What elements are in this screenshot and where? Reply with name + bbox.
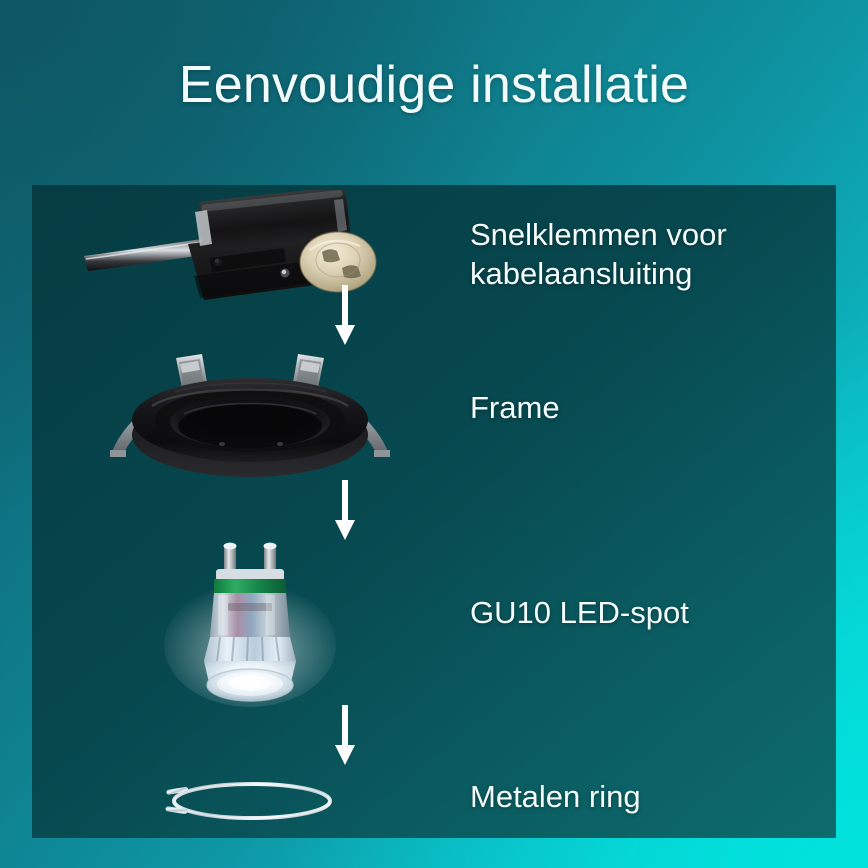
step-label-1-line-2: kabelaansluiting	[470, 254, 830, 293]
step-label-1-line-1: Snelklemmen voor	[470, 215, 830, 254]
terminal-block-connector-icon	[70, 190, 430, 330]
step-label-3: GU10 LED-spot	[470, 593, 830, 632]
step-image-frame	[50, 340, 450, 490]
down-arrow-icon	[332, 285, 358, 347]
step-row-2: Frame	[32, 340, 836, 490]
down-arrow-icon	[332, 705, 358, 767]
downlight-frame-ring-icon	[80, 340, 420, 490]
step-row-4: Metalen ring	[32, 763, 836, 838]
step-image-metal-ring	[50, 763, 450, 838]
step-label-2: Frame	[470, 388, 830, 427]
page-title: Eenvoudige installatie	[0, 55, 868, 115]
brand-band	[214, 579, 286, 594]
step-label-4: Metalen ring	[470, 777, 830, 816]
lamp-branding	[228, 603, 272, 611]
gu10-led-lamp-icon	[140, 533, 360, 713]
step-label-1: Snelklemmen voor kabelaansluiting	[470, 215, 830, 293]
step-label-3-line-1: GU10 LED-spot	[470, 593, 830, 632]
step-label-4-line-1: Metalen ring	[470, 777, 830, 816]
step-label-2-line-1: Frame	[470, 388, 830, 427]
gu10-pins	[224, 543, 277, 571]
step-row-1: Snelklemmen voor kabelaansluiting	[32, 185, 836, 335]
diagram-panel: Snelklemmen voor kabelaansluiting	[32, 185, 836, 838]
step-image-gu10-lamp	[50, 533, 450, 713]
metal-spring-ring-icon	[140, 766, 360, 836]
arrow-3	[332, 705, 358, 767]
installation-infographic: Eenvoudige installatie	[0, 0, 868, 868]
arrow-1	[332, 285, 358, 347]
step-image-terminal-block	[50, 185, 450, 335]
step-row-3: GU10 LED-spot	[32, 533, 836, 713]
